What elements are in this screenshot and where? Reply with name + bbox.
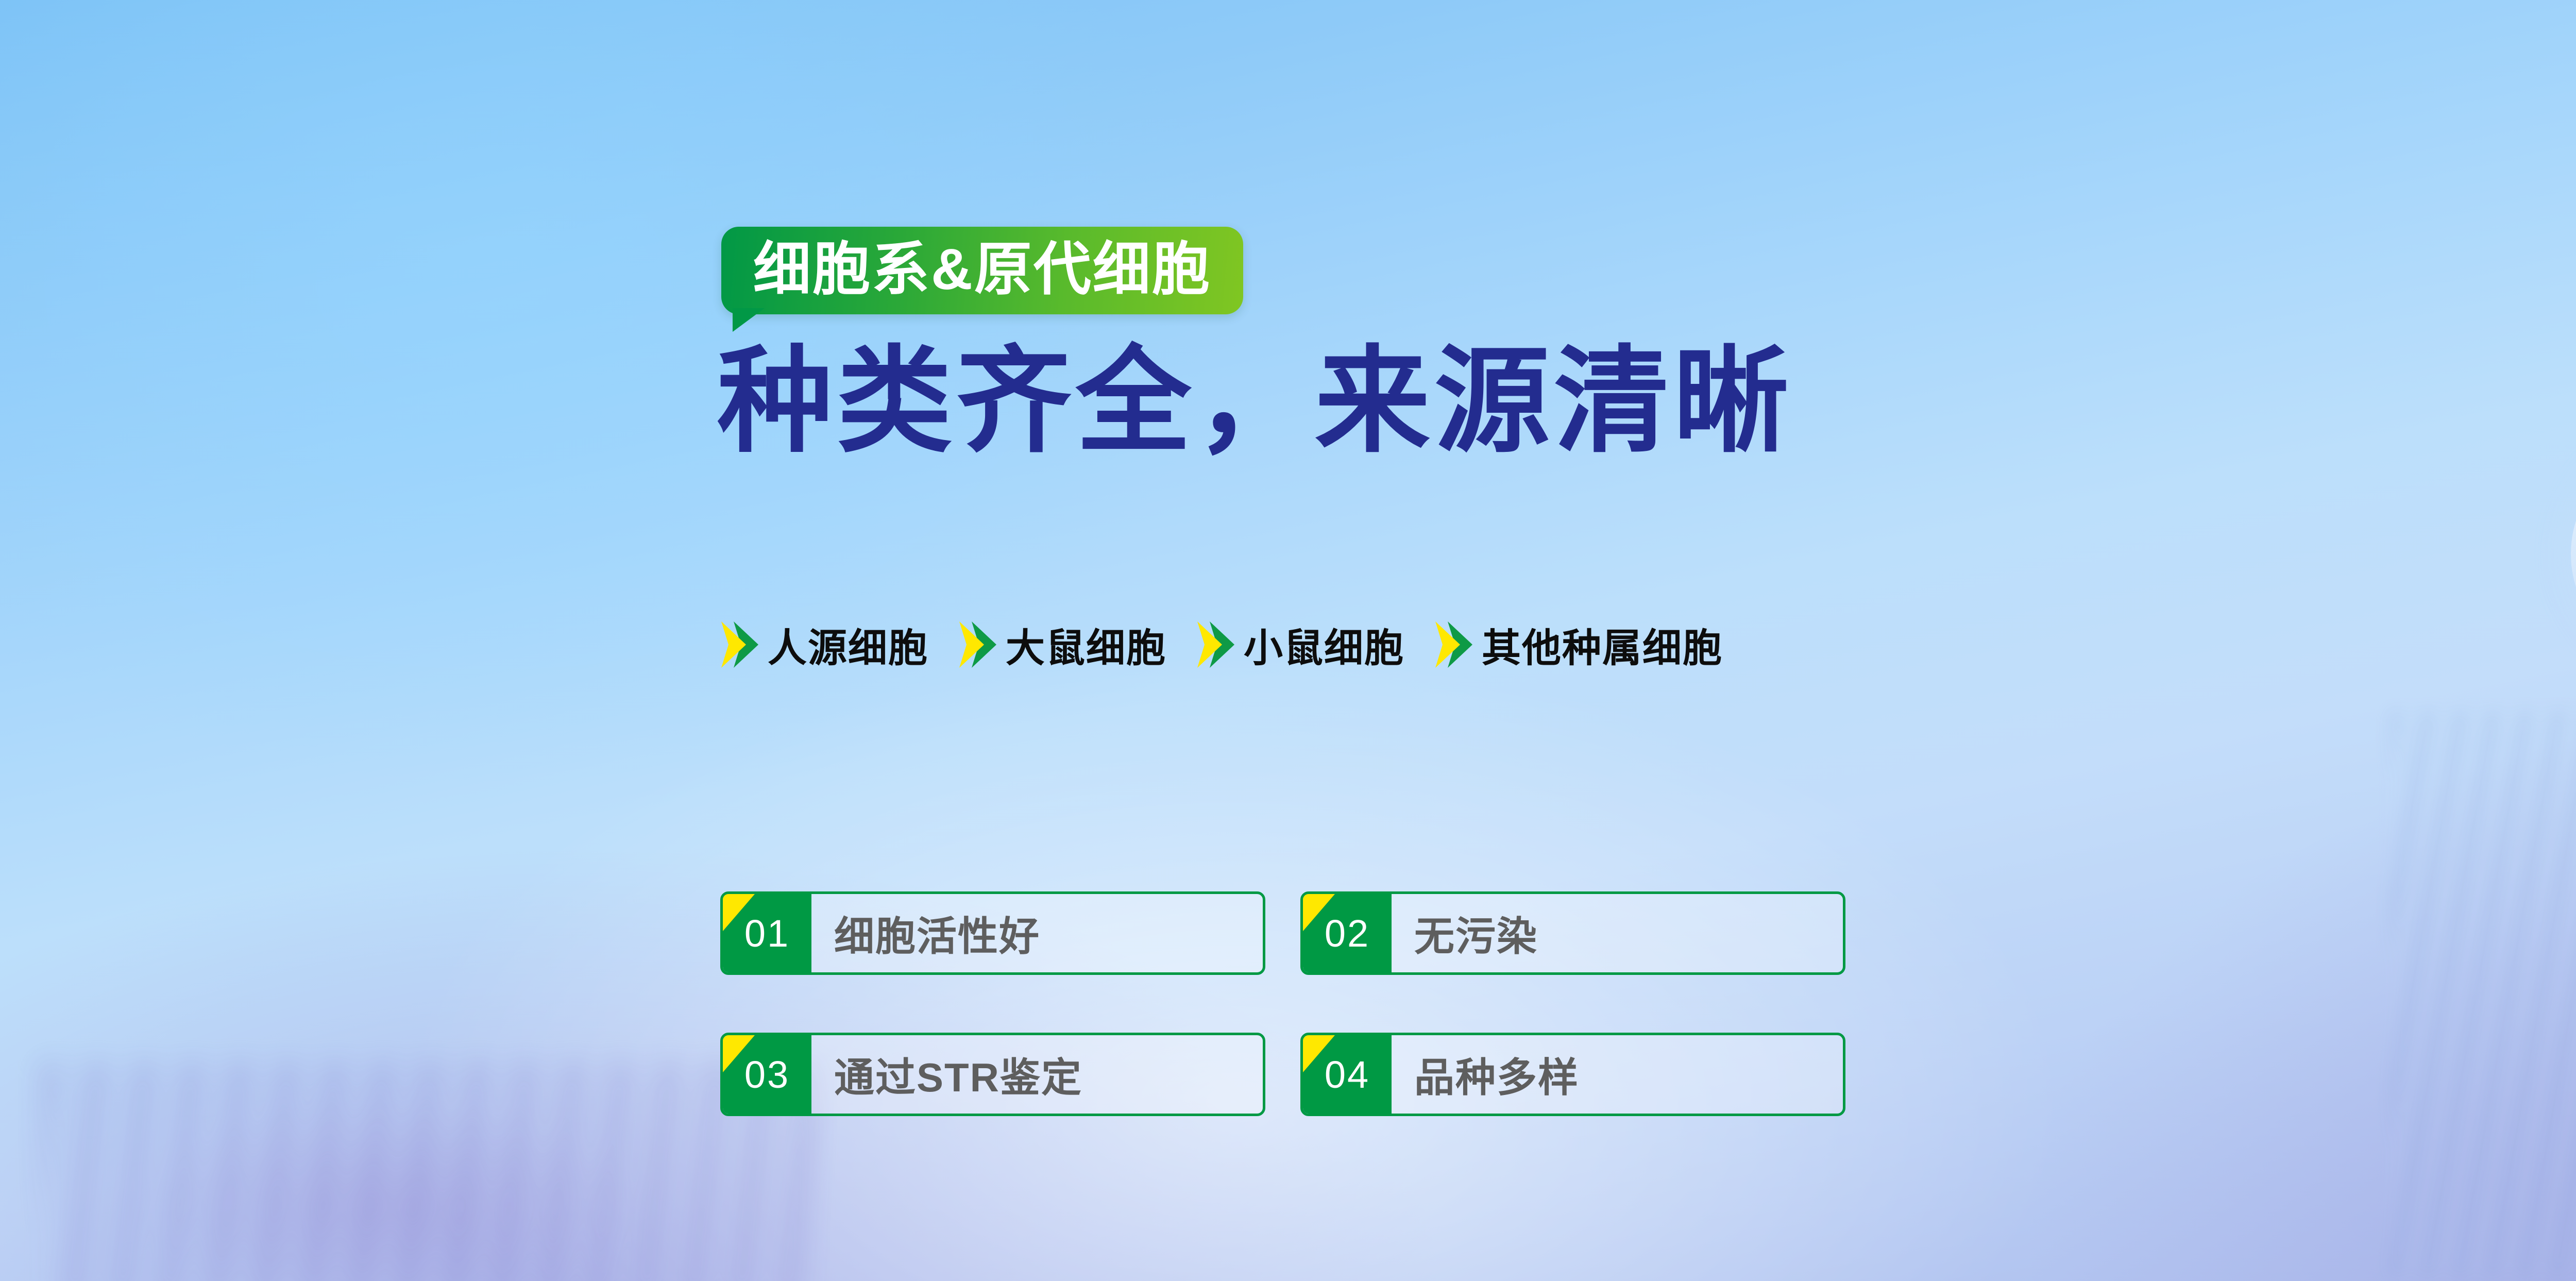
- category-badge-label: 细胞系&原代细胞: [753, 237, 1211, 301]
- dna-strand-blur-bottom-left: [41, 1061, 814, 1281]
- folded-corner-icon: [1303, 1035, 1335, 1072]
- category-badge-wrapper: 细胞系&原代细胞: [721, 227, 1243, 314]
- feature-grid: 01 细胞活性好 02 无污染 03 通过STR鉴定: [720, 891, 1845, 1116]
- badge-tail-icon: [733, 308, 765, 332]
- hero-banner: 细胞系&原代细胞 种类齐全，来源清晰 人源细胞: [0, 0, 2576, 1281]
- cell-type-list: 人源细胞 大鼠细胞 小鼠细胞: [720, 616, 1723, 673]
- feature-item-01[interactable]: 01 细胞活性好: [720, 891, 1265, 975]
- feature-label: 品种多样: [1392, 1035, 1843, 1114]
- feature-number-badge: 04: [1303, 1035, 1392, 1114]
- list-item[interactable]: 大鼠细胞: [958, 616, 1166, 673]
- banner-content: 细胞系&原代细胞 种类齐全，来源清晰 人源细胞: [721, 0, 2473, 1281]
- list-item[interactable]: 人源细胞: [720, 616, 928, 673]
- feature-number-badge: 02: [1303, 894, 1392, 972]
- cell-sphere-bud: [2571, 443, 2576, 665]
- double-chevron-icon: [1434, 619, 1473, 670]
- category-badge: 细胞系&原代细胞: [721, 227, 1243, 314]
- feature-item-03[interactable]: 03 通过STR鉴定: [720, 1033, 1265, 1116]
- folded-corner-icon: [1303, 894, 1335, 931]
- list-item-label: 大鼠细胞: [1006, 616, 1166, 673]
- list-item-label: 小鼠细胞: [1244, 616, 1404, 673]
- feature-item-02[interactable]: 02 无污染: [1300, 891, 1845, 975]
- feature-number-badge: 01: [723, 894, 811, 972]
- feature-label: 细胞活性好: [811, 894, 1263, 972]
- double-chevron-icon: [720, 619, 759, 670]
- folded-corner-icon: [723, 894, 755, 931]
- list-item-label: 人源细胞: [768, 616, 928, 673]
- page-title: 种类齐全，来源清晰: [717, 336, 1793, 467]
- folded-corner-icon: [723, 1035, 755, 1072]
- list-item[interactable]: 其他种属细胞: [1434, 616, 1723, 673]
- feature-label: 无污染: [1392, 894, 1843, 972]
- double-chevron-icon: [1196, 619, 1235, 670]
- list-item[interactable]: 小鼠细胞: [1196, 616, 1404, 673]
- feature-number-badge: 03: [723, 1035, 811, 1114]
- double-chevron-icon: [958, 619, 997, 670]
- feature-item-04[interactable]: 04 品种多样: [1300, 1033, 1845, 1116]
- feature-label: 通过STR鉴定: [811, 1035, 1263, 1114]
- list-item-label: 其他种属细胞: [1482, 616, 1723, 673]
